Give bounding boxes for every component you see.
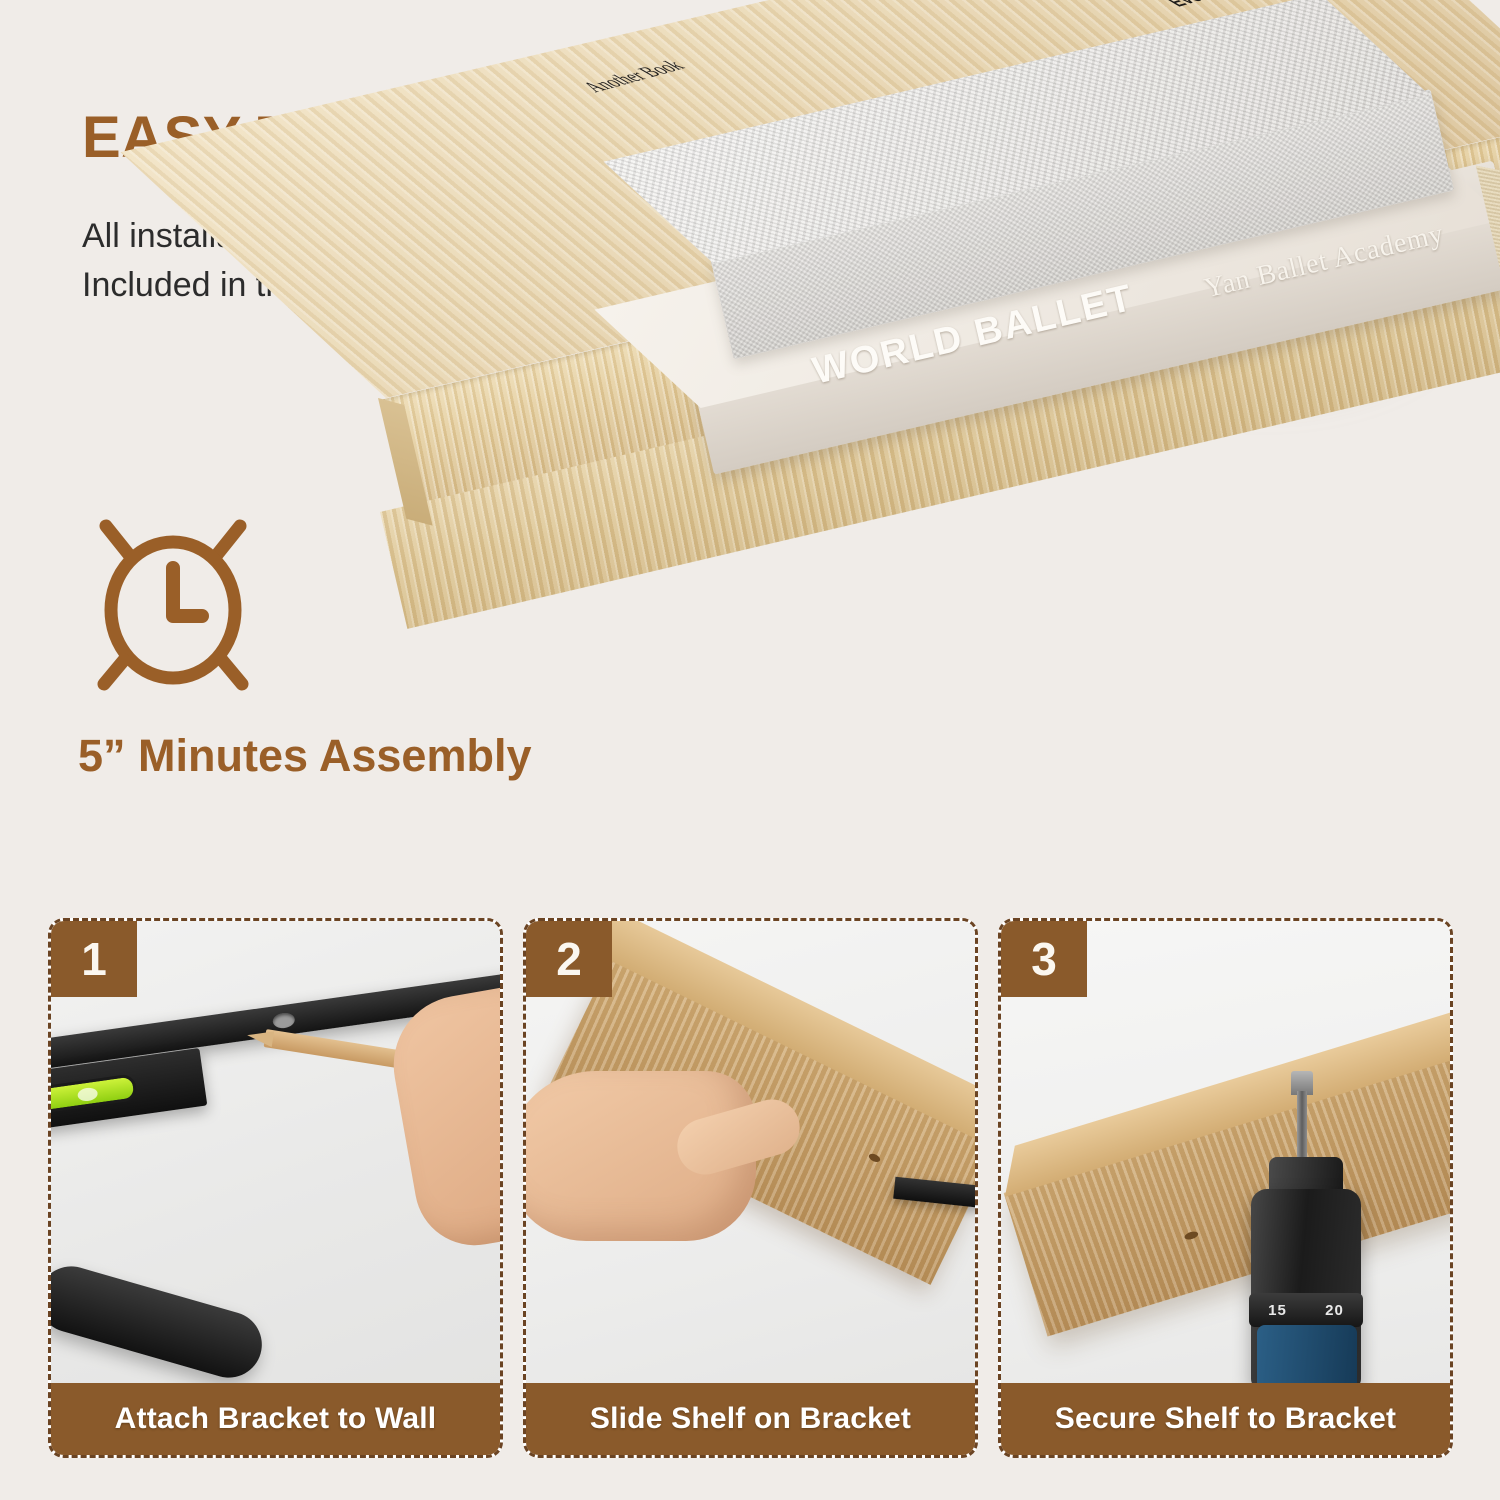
clutch-mark-15: 15 [1268,1302,1287,1319]
step-panel-1[interactable]: 1 Attach Bracket to Wall [48,918,503,1458]
step-caption: Secure Shelf to Bracket [1001,1383,1450,1455]
step-panel-3[interactable]: 15 20 3 Secure Shelf to Bracket [998,918,1453,1458]
clutch-mark-20: 20 [1325,1302,1344,1319]
bracket-mounting-hole [272,1012,296,1030]
drill-bit [1297,1091,1307,1167]
step-caption: Slide Shelf on Bracket [526,1383,975,1455]
step-number-badge: 2 [526,921,612,997]
installation-steps-section: 1 Attach Bracket to Wall 2 Slide Shelf o… [0,905,1500,1500]
level-bubble-vial [51,1073,138,1114]
step-panel-2[interactable]: 2 Slide Shelf on Bracket [523,918,978,1458]
hero-section: EASY TO INSTALL All installation Parts a… [0,0,1500,905]
alarm-clock-icon [78,512,268,697]
book-stack: WORLD BALLET Yan Ballet Academy Another … [380,250,1500,810]
shelf-screw-hole [1184,1230,1199,1241]
step-number-badge: 1 [51,921,137,997]
step-number-badge: 3 [1001,921,1087,997]
drill-body [1257,1325,1357,1391]
step-caption: Attach Bracket to Wall [51,1383,500,1455]
shelf-bracket-hole [868,1152,882,1164]
drill-clutch-ring: 15 20 [1249,1293,1363,1327]
